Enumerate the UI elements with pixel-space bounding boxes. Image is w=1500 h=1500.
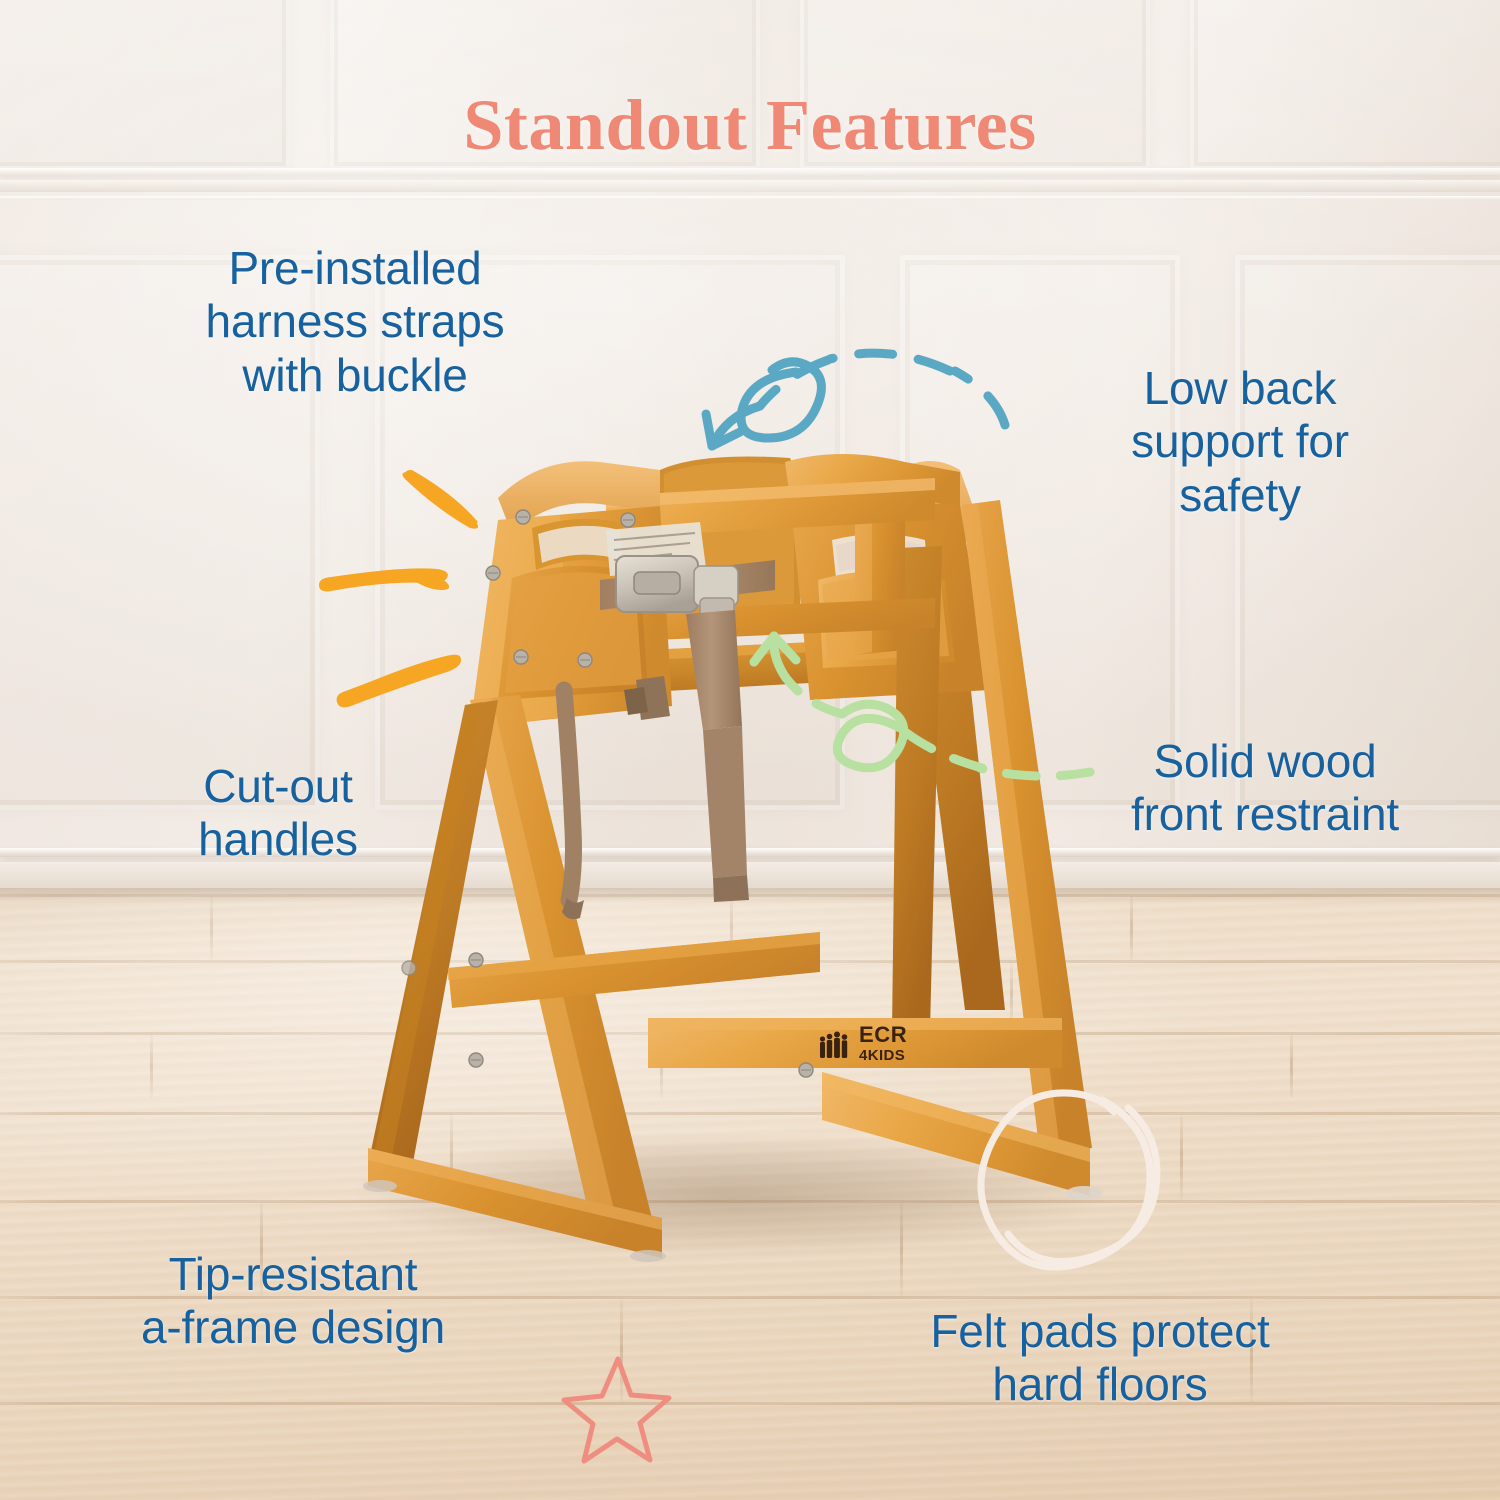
- brand-logo: ECR 4KIDS: [818, 1024, 907, 1063]
- callout-aframe-design: Tip-resistant a-frame design: [58, 1248, 528, 1355]
- brand-logo-line1: ECR: [859, 1024, 907, 1046]
- brand-logo-line2: 4KIDS: [859, 1048, 907, 1063]
- callout-low-back-support: Low back support for safety: [1040, 362, 1440, 522]
- page-title: Standout Features: [0, 84, 1500, 167]
- callout-harness-straps: Pre-installed harness straps with buckle: [120, 242, 590, 402]
- callout-cutout-handles: Cut-out handles: [108, 760, 448, 867]
- callout-front-restraint: Solid wood front restraint: [1045, 735, 1485, 842]
- ecr4kids-figures-icon: [818, 1027, 852, 1061]
- infographic-canvas: ECR 4KIDS: [0, 0, 1500, 1500]
- callout-felt-pads: Felt pads protect hard floors: [835, 1305, 1365, 1412]
